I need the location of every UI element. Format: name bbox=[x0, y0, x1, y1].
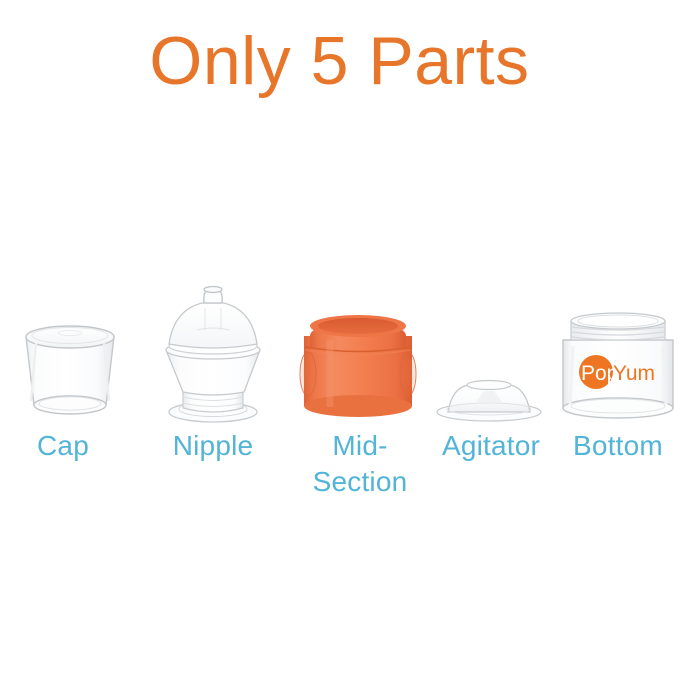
part-label-bottom: Bottom bbox=[556, 428, 679, 464]
part-label-agitator: Agitator bbox=[424, 428, 558, 464]
page-title: Only 5 Parts bbox=[0, 24, 679, 99]
part-image-mid-section bbox=[296, 314, 420, 424]
mid-section-grip-right bbox=[400, 352, 416, 396]
mid-section-grip-left bbox=[300, 352, 316, 396]
part-label-cap: Cap bbox=[8, 428, 118, 464]
cap-bottom-rim bbox=[34, 396, 106, 414]
bottle-cap-icon bbox=[14, 319, 126, 424]
agitator-top-plateau bbox=[467, 381, 511, 390]
part-label-mid-section-line1: Mid- bbox=[332, 430, 387, 461]
cap-top-dome bbox=[26, 326, 114, 348]
part-label-nipple: Nipple bbox=[147, 428, 279, 464]
part-image-nipple bbox=[150, 286, 276, 426]
mid-section-bottom bbox=[304, 395, 412, 417]
jar-neck-opening-inner bbox=[578, 315, 658, 327]
bottle-mid-section-icon bbox=[296, 314, 420, 424]
part-image-bottom: Pop Yum bbox=[557, 312, 679, 424]
part-label-mid-section: Mid-Section bbox=[296, 428, 424, 500]
jar-base bbox=[563, 398, 673, 418]
bottle-bottom-jar-icon: Pop Yum bbox=[557, 312, 679, 424]
nipple-teat-tip bbox=[204, 287, 222, 293]
part-image-agitator bbox=[434, 376, 544, 424]
mid-section-inner-opening bbox=[318, 318, 398, 334]
product-parts-infographic: Only 5 Parts bbox=[0, 0, 679, 679]
parts-row: Pop Yum bbox=[0, 262, 679, 432]
logo-yum-text: Yum bbox=[613, 362, 655, 385]
part-image-cap bbox=[14, 319, 126, 424]
nipple-dome bbox=[169, 303, 257, 348]
part-label-mid-section-line2: Section bbox=[313, 466, 408, 497]
bottle-agitator-icon bbox=[434, 376, 544, 424]
bottle-nipple-icon bbox=[150, 286, 276, 426]
